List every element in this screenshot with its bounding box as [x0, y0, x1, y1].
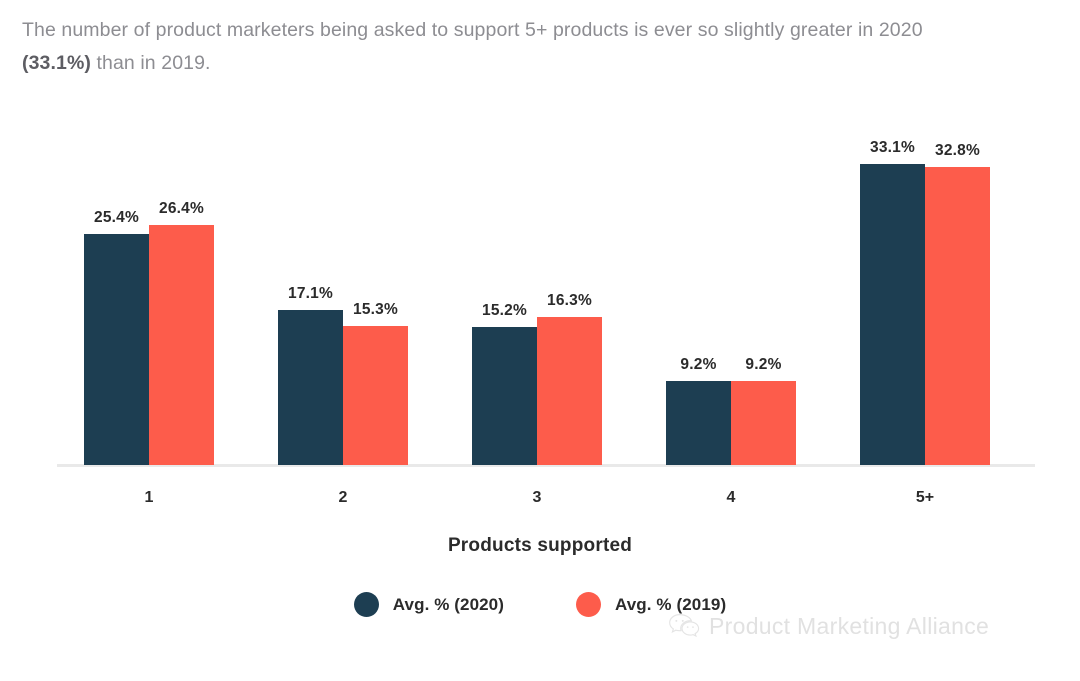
bar-value-label: 9.2% [745, 356, 781, 374]
bar[interactable]: 25.4% [84, 234, 149, 465]
x-axis-tick-label: 3 [472, 489, 602, 507]
bar[interactable]: 9.2% [731, 381, 796, 465]
bar-value-label: 26.4% [159, 200, 204, 218]
legend-label: Avg. % (2019) [615, 595, 726, 615]
x-axis-tick-label: 1 [84, 489, 214, 507]
bar[interactable]: 26.4% [149, 225, 214, 465]
legend-label: Avg. % (2020) [393, 595, 504, 615]
bar-value-label: 16.3% [547, 292, 592, 310]
bar[interactable]: 16.3% [537, 317, 602, 465]
legend-dot-2019 [576, 592, 601, 617]
x-axis-tick-label: 2 [278, 489, 408, 507]
bar-value-label: 32.8% [935, 142, 980, 160]
bar-value-label: 15.3% [353, 301, 398, 319]
bar-value-label: 25.4% [94, 209, 139, 227]
bar[interactable]: 32.8% [925, 167, 990, 465]
bar[interactable]: 33.1% [860, 164, 925, 465]
x-axis-title: Products supported [0, 535, 1080, 557]
x-axis-tick-label: 5+ [860, 489, 990, 507]
bar[interactable]: 15.2% [472, 327, 537, 465]
bar-value-label: 9.2% [680, 356, 716, 374]
bar-value-label: 17.1% [288, 285, 333, 303]
bar[interactable]: 15.3% [343, 326, 408, 465]
chart-plot-area: 25.4%26.4%17.1%15.3%15.2%16.3%9.2%9.2%33… [0, 0, 1080, 681]
chart-page: The number of product marketers being as… [0, 0, 1080, 681]
bar[interactable]: 9.2% [666, 381, 731, 465]
legend-item[interactable]: Avg. % (2019) [576, 592, 726, 617]
x-axis-tick-label: 4 [666, 489, 796, 507]
bar[interactable]: 17.1% [278, 310, 343, 465]
legend-item[interactable]: Avg. % (2020) [354, 592, 504, 617]
chart-legend: Avg. % (2020)Avg. % (2019) [0, 592, 1080, 617]
legend-dot-2020 [354, 592, 379, 617]
bar-value-label: 33.1% [870, 139, 915, 157]
bar-value-label: 15.2% [482, 302, 527, 320]
